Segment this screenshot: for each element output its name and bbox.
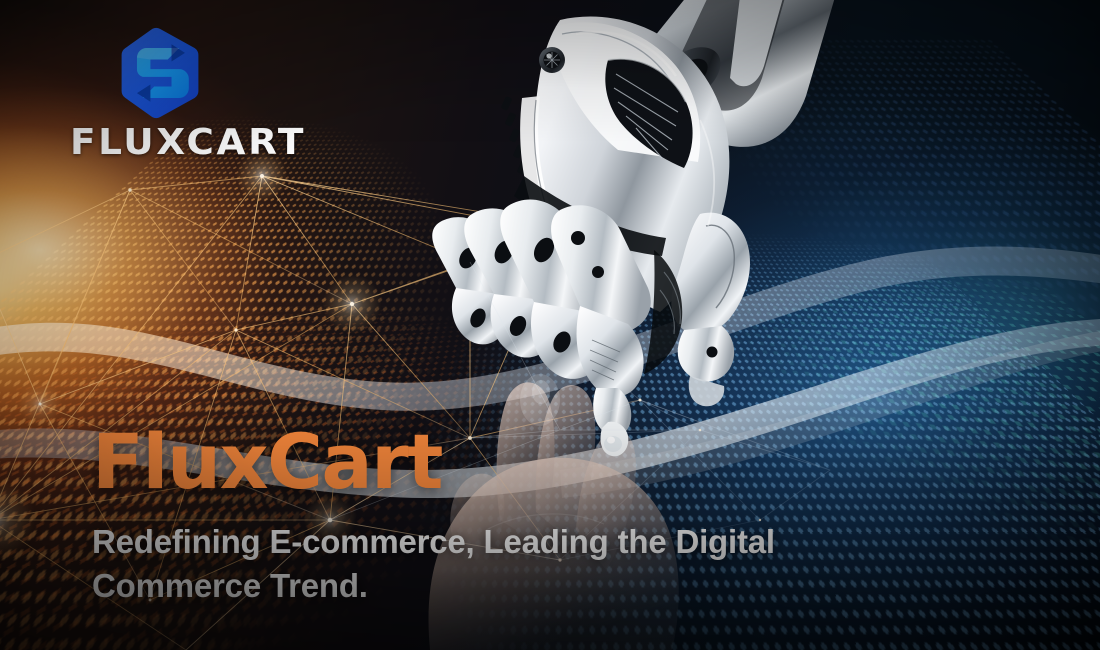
human-hand-image <box>429 374 679 650</box>
hero-headline: FluxCart <box>92 424 442 500</box>
logo-block[interactable]: FLUXCART <box>70 25 330 161</box>
hero-banner: FLUXCART FluxCart Redefining E-commerce,… <box>0 0 1100 650</box>
hexagon-flux-arrow-icon[interactable] <box>112 25 208 121</box>
hero-tagline: Redefining E-commerce, Leading the Digit… <box>92 520 892 608</box>
brand-wordmark: FLUXCART <box>70 125 340 161</box>
